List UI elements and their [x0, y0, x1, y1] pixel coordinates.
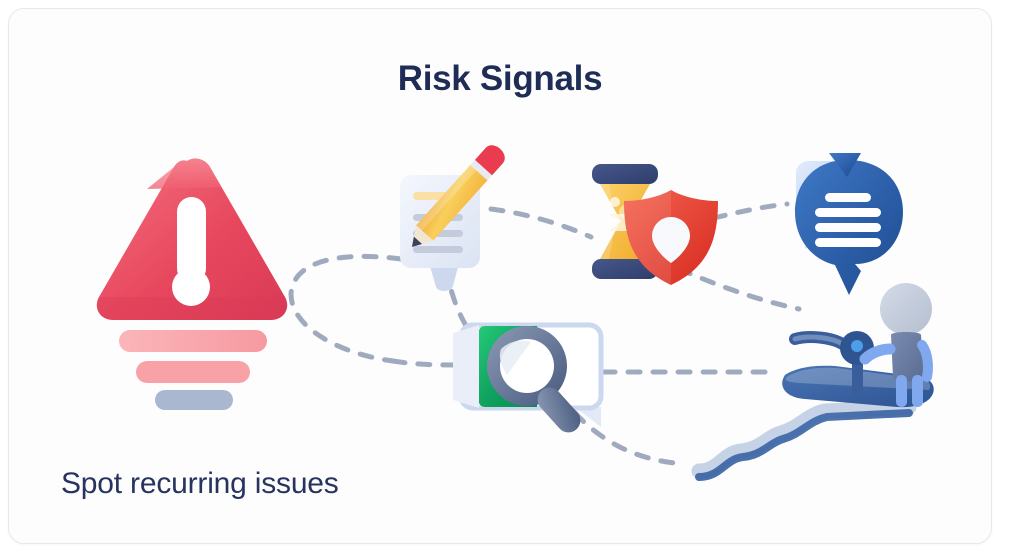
caption-text: Spot recurring issues: [61, 467, 339, 501]
exclamation-dot: [172, 268, 210, 306]
alert-dot-layer: [9, 9, 991, 543]
illustration-card: Risk Signals: [8, 8, 992, 544]
